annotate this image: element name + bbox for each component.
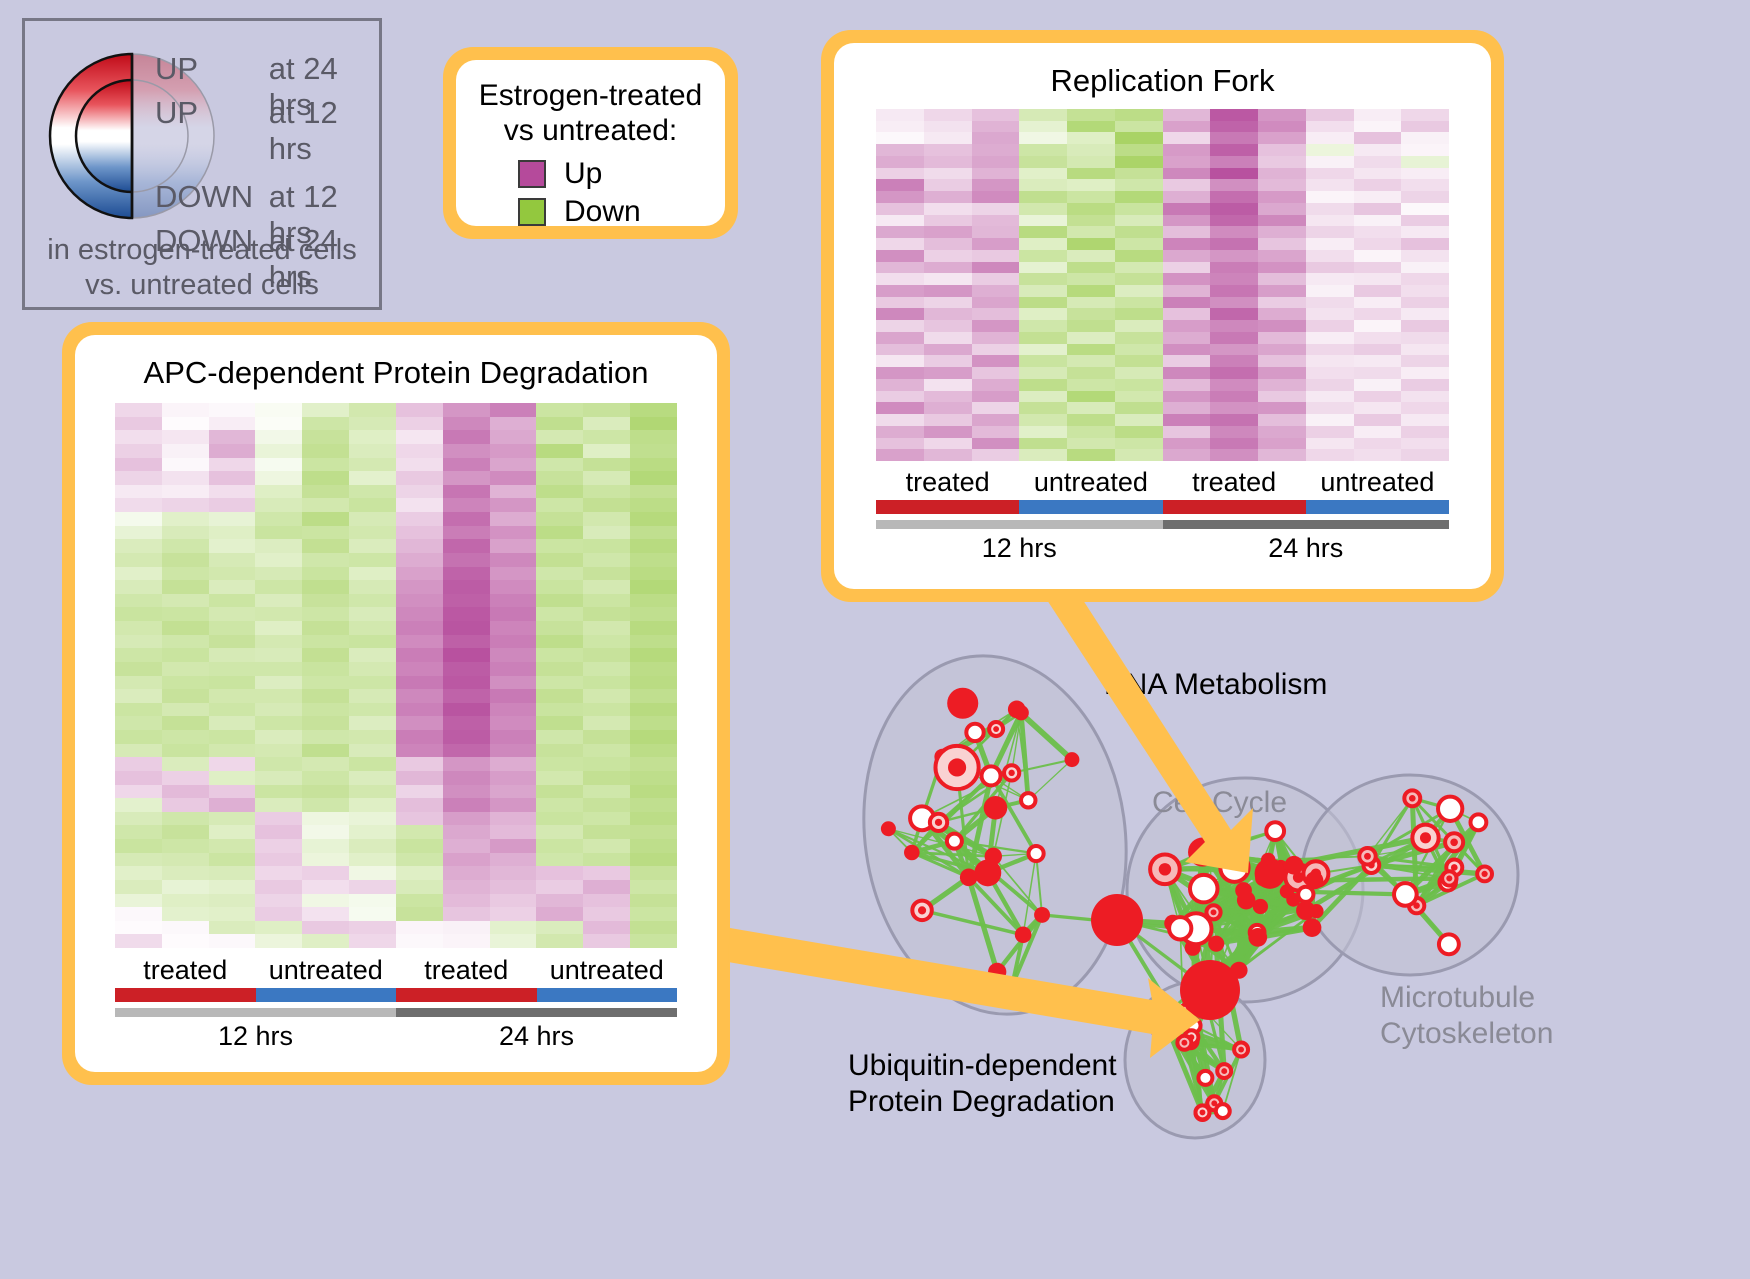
heatmap-cell [302, 430, 349, 444]
network-node [988, 963, 1006, 981]
heatmap-cell [630, 498, 677, 512]
heatmap-cell [255, 607, 302, 621]
heatmap-cell [255, 921, 302, 935]
heatmap-cell [1306, 250, 1354, 262]
heatmap-cell [1115, 391, 1163, 403]
heatmap-cell [209, 580, 256, 594]
heatmap-cell [1163, 332, 1211, 344]
heatmap-cell [1019, 332, 1067, 344]
heatmap-cell [876, 379, 924, 391]
heatmap-cell [1019, 262, 1067, 274]
network-node [951, 838, 957, 844]
heatmap-cell [1067, 332, 1115, 344]
heatmap-cell [536, 539, 583, 553]
legend-label-down: Down [564, 195, 641, 229]
heatmap-cell [1306, 379, 1354, 391]
heatmap-cell [972, 426, 1020, 438]
network-node [935, 819, 942, 826]
heatmap-cell [302, 512, 349, 526]
heatmap-cell [490, 539, 537, 553]
heatmap-cell [443, 716, 490, 730]
heatmap-cell [1115, 168, 1163, 180]
heatmap-cell [115, 498, 162, 512]
heatmap-cell [349, 498, 396, 512]
heatmap-cell [1258, 367, 1306, 379]
heatmap-cell [396, 526, 443, 540]
heatmap-cell [490, 894, 537, 908]
legend-item-up: Up [518, 155, 725, 193]
heatmap-cell [1019, 203, 1067, 215]
heatmap-cell [162, 839, 209, 853]
heatmap-cell [162, 785, 209, 799]
heatmap-cell [1306, 414, 1354, 426]
heatmap-cell [972, 262, 1020, 274]
heatmap-cell [1115, 332, 1163, 344]
heatmap-cell [162, 539, 209, 553]
heatmap-cell [443, 580, 490, 594]
heatmap-cell [396, 512, 443, 526]
heatmap-cell [1019, 449, 1067, 461]
heatmap-cell [1019, 402, 1067, 414]
heatmap-cell [630, 730, 677, 744]
heatmap-cell [1210, 344, 1258, 356]
heatmap-cell [396, 880, 443, 894]
heatmap-cell [1067, 379, 1115, 391]
heatmap-cell [302, 934, 349, 948]
heatmap-cell [1067, 438, 1115, 450]
heatmap-cell [1115, 262, 1163, 274]
heatmap-cell [115, 594, 162, 608]
heatmap-cell [583, 417, 630, 431]
heatmap-cell [302, 662, 349, 676]
heatmap-cell [1210, 414, 1258, 426]
heatmap-cell [876, 226, 924, 238]
heatmap-cell [1258, 285, 1306, 297]
heatmap-cell [255, 798, 302, 812]
heatmap-cell [924, 191, 972, 203]
heatmap-cell [162, 907, 209, 921]
heatmap-cell [630, 771, 677, 785]
heatmap-cell [115, 458, 162, 472]
treatment-seg-rf-2 [1163, 500, 1306, 514]
heatmap-cell [1019, 168, 1067, 180]
heatmap-cell [396, 567, 443, 581]
heatmap-cell [630, 744, 677, 758]
heatmap-cell [924, 344, 972, 356]
heatmap-cell [1163, 273, 1211, 285]
heatmap-cell [490, 771, 537, 785]
heatmap-cell [443, 635, 490, 649]
heatmap-cell [396, 607, 443, 621]
heatmap-cell [209, 403, 256, 417]
heatmap-cell [209, 839, 256, 853]
network-node [971, 729, 978, 736]
heatmap-cell [255, 621, 302, 635]
heatmap-cell [536, 403, 583, 417]
heatmap-cell [349, 458, 396, 472]
heatmap-cell [1306, 297, 1354, 309]
heatmap-cell [972, 438, 1020, 450]
heatmap-cell [209, 757, 256, 771]
heatmap-cell [1401, 297, 1449, 309]
heatmap-cell [349, 662, 396, 676]
heatmap-cell [302, 458, 349, 472]
heatmap-cell [536, 594, 583, 608]
heatmap-cell [1354, 414, 1402, 426]
heatmap-cell [1401, 226, 1449, 238]
heatmap-cell [1210, 262, 1258, 274]
heatmap-cell [583, 430, 630, 444]
heatmap-cell [1401, 262, 1449, 274]
heatmap-cell [255, 866, 302, 880]
heatmap-cell [490, 444, 537, 458]
treatment-seg-apc-2 [396, 988, 537, 1002]
heatmap-cell [396, 730, 443, 744]
heatmap-cell [924, 402, 972, 414]
heatmap-cell [1401, 250, 1449, 262]
heatmap-cell [162, 689, 209, 703]
heatmap-cell [1401, 391, 1449, 403]
heatmap-cell [1019, 226, 1067, 238]
heatmap-cell [1067, 168, 1115, 180]
heatmap-cell [536, 526, 583, 540]
heatmap-cell [115, 512, 162, 526]
heatmap-cell [1306, 156, 1354, 168]
heatmap-cell [255, 907, 302, 921]
heatmap-cell [490, 512, 537, 526]
network-node [987, 772, 995, 780]
heatmap-cell [1210, 132, 1258, 144]
network-node [1475, 819, 1482, 826]
heatmap-cell [349, 471, 396, 485]
heatmap-cell [396, 853, 443, 867]
heatmap-cell [302, 785, 349, 799]
heatmap-cell [490, 526, 537, 540]
network-node [1176, 924, 1185, 933]
heatmap-cell [1306, 168, 1354, 180]
heatmap-grid [876, 109, 1449, 461]
color-wheel-legend: UP at 24 hrs UP at 12 hrs DOWN at 12 hrs… [22, 18, 382, 310]
heatmap-cell [1401, 367, 1449, 379]
heatmap-cell [490, 785, 537, 799]
heatmap-cell [162, 880, 209, 894]
heatmap-cell [924, 273, 972, 285]
heatmap-cell [1210, 332, 1258, 344]
heatmap-cell [1210, 179, 1258, 191]
network-node [1014, 705, 1029, 720]
network-node [1180, 960, 1240, 1020]
heatmap-cell [1163, 379, 1211, 391]
heatmap-cell [490, 744, 537, 758]
heatmap-cell [876, 191, 924, 203]
heatmap-cell [115, 785, 162, 799]
heatmap-cell [162, 934, 209, 948]
heatmap-cell [972, 179, 1020, 191]
heatmap-cell [1306, 402, 1354, 414]
heatmap-cell [443, 648, 490, 662]
heatmap-cell [302, 839, 349, 853]
heatmap-cell [443, 458, 490, 472]
heatmap-cell [924, 332, 972, 344]
heatmap-cell [255, 757, 302, 771]
heatmap-cell [209, 567, 256, 581]
heatmap-cell [536, 716, 583, 730]
heatmap-cell [162, 471, 209, 485]
heatmap-cell [396, 444, 443, 458]
heatmap-cell [302, 553, 349, 567]
heatmap-cell [1306, 238, 1354, 250]
heatmap-cell [1067, 402, 1115, 414]
network-node [1285, 856, 1304, 875]
heatmap-cell [349, 716, 396, 730]
heatmap-cell [1115, 297, 1163, 309]
heatmap-cell [1163, 355, 1211, 367]
heatmap-cell [209, 635, 256, 649]
heatmap-cell [302, 812, 349, 826]
heatmap-cell [302, 716, 349, 730]
heatmap-cell [1163, 132, 1211, 144]
heatmap-cell [583, 798, 630, 812]
heatmap-cell [1306, 262, 1354, 274]
heatmap-cell [396, 662, 443, 676]
heatmap-cell [349, 703, 396, 717]
heatmap-cell [443, 744, 490, 758]
heatmap-cell [443, 703, 490, 717]
heatmap-cell [1115, 226, 1163, 238]
heatmap-cell [115, 444, 162, 458]
heatmap-cell [630, 689, 677, 703]
heatmap-cell [630, 512, 677, 526]
heatmap-cell [1019, 426, 1067, 438]
heatmap-cell [209, 444, 256, 458]
heatmap-cell [1306, 109, 1354, 121]
heatmap-cell [1354, 438, 1402, 450]
heatmap-cell [630, 662, 677, 676]
heatmap-cell [349, 539, 396, 553]
heatmap-cell [1401, 449, 1449, 461]
heatmap-cell [972, 250, 1020, 262]
heatmap-cell [1067, 285, 1115, 297]
heatmap-cell [972, 308, 1020, 320]
network-node [1198, 883, 1210, 895]
heatmap-cell [583, 921, 630, 935]
figure-canvas: UP at 24 hrs UP at 12 hrs DOWN at 12 hrs… [0, 0, 1750, 1279]
heatmap-cell [1067, 226, 1115, 238]
heatmap-cell [115, 567, 162, 581]
time-label-rf-0: 12 hrs [876, 533, 1163, 564]
treatment-bar-rf [876, 500, 1449, 514]
heatmap-cell [443, 553, 490, 567]
heatmap-cell [443, 771, 490, 785]
heatmap-cell [972, 121, 1020, 133]
heatmap-cell [255, 662, 302, 676]
heatmap-cell [443, 662, 490, 676]
heatmap-cell [1401, 285, 1449, 297]
time-seg-apc-0 [115, 1008, 396, 1017]
heatmap-cell [209, 553, 256, 567]
heatmap-cell [255, 730, 302, 744]
heatmap-cell [924, 367, 972, 379]
heatmap-cell [630, 894, 677, 908]
heatmap-cell [1210, 238, 1258, 250]
group-label-apc-1: untreated [256, 955, 397, 986]
heatmap-cell [1210, 250, 1258, 262]
heatmap-cell [1163, 308, 1211, 320]
heatmap-cell [443, 567, 490, 581]
heatmap-cell [255, 403, 302, 417]
heatmap-cell [583, 825, 630, 839]
heatmap-cell [1258, 332, 1306, 344]
heatmap-cell [162, 526, 209, 540]
heatmap-cell [876, 391, 924, 403]
network-node [1003, 977, 1020, 994]
heatmap-cell [115, 417, 162, 431]
heatmap-cell [302, 567, 349, 581]
heatmap-cell [1163, 179, 1211, 191]
network-node [985, 848, 1002, 865]
heatmap-cell [302, 921, 349, 935]
heatmap-cell [924, 426, 972, 438]
heatmap-cell [583, 785, 630, 799]
heatmap-cell [876, 355, 924, 367]
heatmap-cell [349, 880, 396, 894]
heatmap-cell [396, 430, 443, 444]
heatmap-cell [583, 526, 630, 540]
heatmap-cell [490, 934, 537, 948]
heatmap-cell [876, 273, 924, 285]
network-node [1025, 797, 1031, 803]
heatmap-cell [1258, 179, 1306, 191]
heatmap-cell [1067, 132, 1115, 144]
heatmap-cell [209, 812, 256, 826]
heatmap-cell [630, 594, 677, 608]
heatmap-cell [972, 203, 1020, 215]
heatmap-cell [1354, 168, 1402, 180]
heatmap-cell [1258, 121, 1306, 133]
network-node [1450, 838, 1458, 846]
heatmap-cell [924, 285, 972, 297]
network-node [1065, 752, 1080, 767]
heatmap-cell [536, 744, 583, 758]
heatmap-cell [630, 825, 677, 839]
wheel-row-up-24: UP at 24 hrs [155, 51, 385, 95]
network-node [1238, 1047, 1244, 1053]
heatmap-cell [1306, 332, 1354, 344]
heatmap-cell [1401, 144, 1449, 156]
heatmap-cell [162, 458, 209, 472]
heatmap-cell [162, 703, 209, 717]
heatmap-cell [972, 449, 1020, 461]
heatmap-cell [162, 485, 209, 499]
heatmap-cell [1067, 262, 1115, 274]
heatmap-cell [209, 526, 256, 540]
heatmap-cell [924, 391, 972, 403]
heatmap-cell [583, 458, 630, 472]
heatmap-cell [972, 226, 1020, 238]
time-bar-rf [876, 520, 1449, 529]
time-seg-rf-1 [1163, 520, 1450, 529]
heatmap-cell [490, 866, 537, 880]
heatmap-cell [1354, 203, 1402, 215]
heatmap-cell [876, 121, 924, 133]
heatmap-cell [302, 703, 349, 717]
heatmap-cell [1163, 449, 1211, 461]
heatmap-cell [1401, 156, 1449, 168]
heatmap-cell [583, 485, 630, 499]
cluster-label-dna-metabolism: DNA Metabolism [1104, 667, 1327, 703]
heatmap-cell [536, 785, 583, 799]
heatmap-cell [490, 689, 537, 703]
heatmap-cell [209, 430, 256, 444]
heatmap-cell [1306, 121, 1354, 133]
heatmap-cell [630, 676, 677, 690]
heatmap-cell [1115, 414, 1163, 426]
heatmap-cell [876, 109, 924, 121]
panel-title-apc: APC-dependent Protein Degradation [75, 335, 717, 391]
heatmap-cell [443, 430, 490, 444]
heatmap-cell [302, 471, 349, 485]
heatmap-cell [255, 417, 302, 431]
heatmap-cell [349, 921, 396, 935]
heatmap-cell [115, 866, 162, 880]
heatmap-cell [1258, 402, 1306, 414]
heatmap-cell [115, 716, 162, 730]
heatmap-cell [1067, 203, 1115, 215]
heatmap-cell [536, 430, 583, 444]
heatmap-cell [536, 471, 583, 485]
heatmap-cell [115, 539, 162, 553]
heatmap-cell [1354, 332, 1402, 344]
heatmap-cell [209, 934, 256, 948]
up-down-legend-panel: Estrogen-treated vs untreated: Up Down [443, 47, 738, 239]
heatmap-cell [536, 567, 583, 581]
heatmap-cell [536, 825, 583, 839]
heatmap-cell [302, 635, 349, 649]
heatmap-cell [876, 285, 924, 297]
heatmap-cell [876, 449, 924, 461]
heatmap-cell [972, 367, 1020, 379]
network-node [1409, 795, 1416, 802]
heatmap-cell [115, 812, 162, 826]
heatmap-cell [583, 567, 630, 581]
heatmap-cell [1258, 355, 1306, 367]
heatmap-cell [349, 567, 396, 581]
network-node [1221, 1068, 1227, 1074]
heatmap-cell [115, 703, 162, 717]
heatmap-cell [255, 512, 302, 526]
heatmap-cell [1210, 109, 1258, 121]
heatmap-cell [443, 880, 490, 894]
heatmap-cell [490, 662, 537, 676]
network-node [1303, 891, 1309, 897]
heatmap-cell [1163, 297, 1211, 309]
heatmap-cell [536, 485, 583, 499]
network-node [1309, 904, 1323, 918]
heatmap-cell [1258, 438, 1306, 450]
heatmap-cell [630, 444, 677, 458]
heatmap-cell [209, 703, 256, 717]
network-node [917, 813, 927, 823]
group-label-rf-1: untreated [1019, 467, 1162, 498]
heatmap-cell [1354, 391, 1402, 403]
heatmap-cell [536, 757, 583, 771]
heatmap-cell [924, 308, 972, 320]
heatmap-cell [396, 676, 443, 690]
heatmap-cell [1067, 367, 1115, 379]
heatmap-cell [1067, 297, 1115, 309]
heatmap-cell [302, 485, 349, 499]
heatmap-cell [349, 757, 396, 771]
